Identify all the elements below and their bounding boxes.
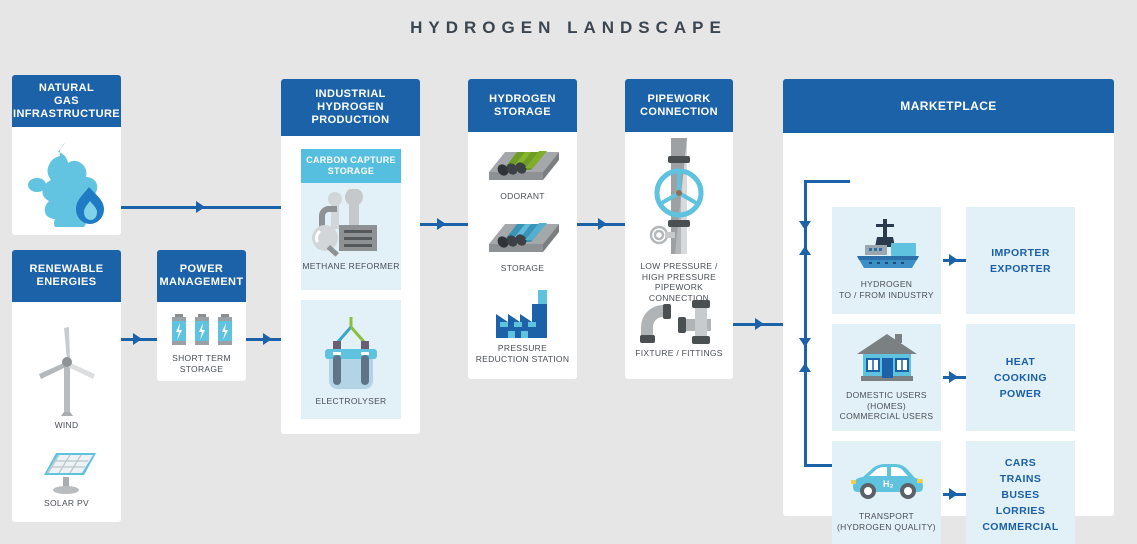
header-line: STORAGE <box>303 166 399 177</box>
pipe-fittings-icon <box>637 297 721 345</box>
electrolyser-icon <box>313 313 389 393</box>
methane-reformer-icon <box>308 189 394 261</box>
panel-marketplace[interactable]: MARKETPLACE <box>783 79 1114 516</box>
caption-line: COMMERCIAL USERS <box>840 411 934 422</box>
panel-hydrogen-storage[interactable]: HYDROGEN STORAGE O <box>468 79 577 379</box>
pressure-reduction-station-icon <box>488 288 558 340</box>
arrow-renewable-to-power <box>133 333 142 345</box>
caption-line: HYDROGEN <box>839 279 934 290</box>
storage-tanks-icon <box>485 216 561 260</box>
arrow-bus-up-row1 <box>799 246 811 255</box>
caption-line: STORAGE <box>157 364 246 375</box>
solar-panel-icon-block: SOLAR PV <box>12 445 121 509</box>
marketplace-bus-top-stub <box>804 180 850 183</box>
house-icon <box>854 332 920 384</box>
outcome-line: COMMERCIAL <box>982 519 1058 535</box>
header-line: PIPEWORK <box>647 93 710 106</box>
panel-industrial-hydrogen-production[interactable]: INDUSTRIAL HYDROGEN PRODUCTION CARBON CA… <box>281 79 420 434</box>
outcome-line: CARS <box>1005 455 1036 471</box>
outcome-line: IMPORTER <box>991 245 1050 261</box>
arrow-bus-down-row2 <box>799 338 811 347</box>
arrow-row-3 <box>949 488 958 500</box>
arrow-storage-to-pipework <box>598 218 607 230</box>
arrow-gas-to-production <box>196 201 205 213</box>
arrow-row-2 <box>949 371 958 383</box>
outcome-line: COOKING <box>994 370 1047 386</box>
header-line: MARKETPLACE <box>900 100 996 113</box>
outcome-line: LORRIES <box>996 503 1045 519</box>
panel-header-hydrogen-storage: HYDROGEN STORAGE <box>468 79 577 132</box>
outcome-line: HEAT <box>1006 354 1035 370</box>
marketplace-row-1-outcome[interactable]: IMPORTER EXPORTER <box>966 207 1075 314</box>
pipe-fittings-icon-block: FIXTURE / FITTINGS <box>625 297 733 359</box>
caption-line: PRESSURE <box>468 343 577 354</box>
pressure-reduction-caption: PRESSURE REDUCTION STATION <box>468 343 577 364</box>
marketplace-row-1-source[interactable]: HYDROGEN TO / FROM INDUSTRY <box>832 207 941 314</box>
page-title: HYDROGEN LANDSCAPE <box>0 18 1137 38</box>
panel-header-natural-gas: NATURAL GAS INFRASTRUCTURE <box>12 75 121 127</box>
subbox-electrolyser-box[interactable]: ELECTROLYSER <box>301 300 401 419</box>
header-line: NATURAL <box>39 82 94 95</box>
arrow-bus-up-row2 <box>799 363 811 372</box>
arrow-pipework-to-marketplace <box>755 318 764 330</box>
header-line: PRODUCTION <box>312 114 390 127</box>
header-line: STORAGE <box>494 106 551 119</box>
header-line: GAS <box>54 95 79 108</box>
wind-turbine-icon-block: WIND <box>12 322 121 431</box>
wind-caption: WIND <box>12 420 121 431</box>
marketplace-row-1-caption: HYDROGEN TO / FROM INDUSTRY <box>839 279 934 300</box>
header-line: HYDROGEN <box>489 93 556 106</box>
header-line: POWER <box>180 263 224 276</box>
caption-line: HIGH PRESSURE <box>625 272 733 283</box>
hydrogen-car-icon: H₂ <box>847 457 927 501</box>
header-line: RENEWABLE <box>30 263 104 276</box>
header-line: CARBON CAPTURE <box>303 155 399 166</box>
header-line: MANAGEMENT <box>159 276 243 289</box>
header-line: ENERGIES <box>36 276 96 289</box>
marketplace-row-3-caption: TRANSPORT (HYDROGEN QUALITY) <box>837 511 936 532</box>
panel-header-industrial-production: INDUSTRIAL HYDROGEN PRODUCTION <box>281 79 420 136</box>
wind-turbine-icon <box>36 322 98 417</box>
panel-natural-gas-infrastructure[interactable]: NATURAL GAS INFRASTRUCTURE <box>12 75 121 235</box>
caption-line: REDUCTION STATION <box>468 354 577 365</box>
caption-line: LOW PRESSURE / <box>625 261 733 272</box>
pressure-reduction-icon-block: PRESSURE REDUCTION STATION <box>468 288 577 364</box>
pipe-valve-icon <box>641 136 717 258</box>
marketplace-row-2-source[interactable]: DOMESTIC USERS (HOMES) COMMERCIAL USERS <box>832 324 941 431</box>
odorant-caption: ODORANT <box>468 191 577 202</box>
arrow-production-to-storage <box>437 218 446 230</box>
panel-header-pipework: PIPEWORK CONNECTION <box>625 79 733 132</box>
cargo-ship-icon <box>849 217 925 271</box>
outcome-line: TRAINS <box>1000 471 1041 487</box>
svg-text:H₂: H₂ <box>883 479 894 489</box>
caption-line: TO / FROM INDUSTRY <box>839 290 934 301</box>
panel-renewable-energies[interactable]: RENEWABLE ENERGIES WIND <box>12 250 121 522</box>
pipe-fittings-caption: FIXTURE / FITTINGS <box>625 348 733 359</box>
header-line: CONNECTION <box>640 106 718 119</box>
solar-panel-icon <box>32 445 102 495</box>
subbox-header-carbon-capture: CARBON CAPTURE STORAGE <box>301 149 401 183</box>
panel-header-marketplace: MARKETPLACE <box>783 79 1114 133</box>
arrow-bus-down-row1 <box>799 221 811 230</box>
outcome-line: EXPORTER <box>990 261 1051 277</box>
infographic-canvas: HYDROGEN LANDSCAPE NATURAL GAS INFRASTRU… <box>0 0 1137 544</box>
marketplace-row-2-outcome[interactable]: HEAT COOKING POWER <box>966 324 1075 431</box>
caption-line: TRANSPORT <box>837 511 936 522</box>
batteries-icon-block: SHORT TERM STORAGE <box>157 312 246 374</box>
marketplace-row-3-outcome[interactable]: CARS TRAINS BUSES LORRIES COMMERCIAL <box>966 441 1075 544</box>
electrolyser-caption: ELECTROLYSER <box>316 396 387 407</box>
marketplace-row-2-caption: DOMESTIC USERS (HOMES) COMMERCIAL USERS <box>840 390 934 422</box>
panel-pipework-connection[interactable]: PIPEWORK CONNECTION <box>625 79 733 379</box>
batteries-icon <box>172 312 232 350</box>
subbox-carbon-capture-storage[interactable]: CARBON CAPTURE STORAGE <box>301 149 401 290</box>
panel-header-power-management: POWER MANAGEMENT <box>157 250 246 302</box>
caption-line: (HYDROGEN QUALITY) <box>837 522 936 533</box>
header-line: HYDROGEN <box>317 101 384 114</box>
panel-power-management[interactable]: POWER MANAGEMENT <box>157 250 246 381</box>
pipe-valve-icon-block: LOW PRESSURE / HIGH PRESSURE PIPEWORK CO… <box>625 136 733 303</box>
arrow-row-1 <box>949 254 958 266</box>
arrow-power-to-production <box>263 333 272 345</box>
outcome-line: BUSES <box>1001 487 1039 503</box>
header-line: INFRASTRUCTURE <box>13 108 120 121</box>
marketplace-row-3-source[interactable]: H₂ TRANSPORT (HYDROGEN QUALITY) <box>832 441 941 544</box>
odorant-icon-block: ODORANT <box>468 144 577 202</box>
panel-header-renewable: RENEWABLE ENERGIES <box>12 250 121 302</box>
uk-map-gas-flame-icon <box>12 141 121 227</box>
header-line: INDUSTRIAL <box>315 88 386 101</box>
outcome-line: POWER <box>1000 386 1042 402</box>
short-term-storage-caption: SHORT TERM STORAGE <box>157 353 246 374</box>
caption-line: DOMESTIC USERS <box>840 390 934 401</box>
caption-line: (HOMES) <box>840 401 934 412</box>
caption-line: SHORT TERM <box>157 353 246 364</box>
odorant-tanks-icon <box>485 144 561 188</box>
methane-reformer-caption: METHANE REFORMER <box>301 261 401 272</box>
solar-caption: SOLAR PV <box>12 498 121 509</box>
storage-caption: STORAGE <box>468 263 577 274</box>
storage-icon-block: STORAGE <box>468 216 577 274</box>
